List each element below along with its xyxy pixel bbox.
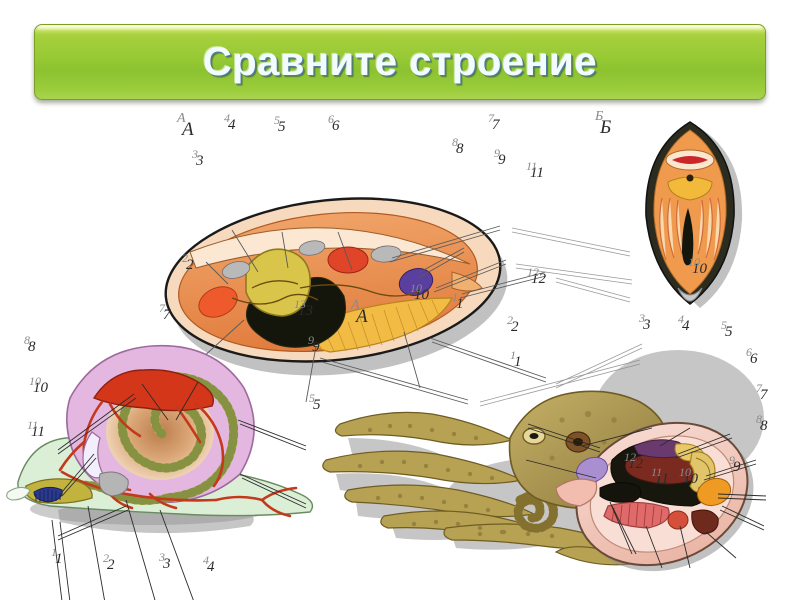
figure-callout-octopus-2: 22: [511, 320, 519, 335]
figure-callout-ghost: 1: [51, 546, 57, 558]
figure-callout-ghost: 7: [488, 112, 494, 124]
figure-callout-bivalve_cross_section-Б: ББ: [600, 118, 611, 137]
figure-callout-ghost: 10: [688, 256, 700, 268]
figure-callout-ghost: 12: [624, 451, 636, 463]
figure-callout-ghost: 1: [452, 291, 458, 303]
figure-callout-bivalve-9: 99: [498, 153, 506, 168]
figure-callout-bivalve-5: 55: [278, 120, 286, 135]
figure-callout-bivalve-10: 1010: [414, 288, 429, 303]
snail-kidney: [99, 472, 128, 496]
octopus-pupil: [530, 433, 539, 439]
figure-callout-ghost: 9: [308, 334, 314, 346]
figure-callout-ghost: 5: [274, 114, 280, 126]
figure-callout-ghost: 5: [309, 392, 315, 404]
figure-callout-bivalve-13: 1313: [298, 304, 313, 319]
figure-callout-bivalve-12: 1212: [531, 272, 546, 287]
figure-callout-snail-11: 1111: [31, 425, 45, 440]
figure-callout-octopus-8: 88: [760, 419, 768, 434]
figure-callout-ghost: 3: [159, 551, 165, 563]
figure-callout-octopus-9: 99: [733, 460, 741, 475]
figure-callout-ghost: 2: [182, 252, 188, 264]
figure-callout-octopus-12: 1212: [628, 457, 643, 472]
figure-callout-ghost: 6: [746, 346, 752, 358]
figure-callout-snail-3: 33: [163, 557, 171, 572]
figure-callout-octopus-6: 66: [750, 352, 758, 367]
figure-callout-ghost: 13: [294, 298, 306, 310]
figure-callout-ghost: 11: [651, 466, 662, 478]
figure-callout-ghost: А: [351, 299, 360, 313]
figure-callout-ghost: 9: [729, 454, 735, 466]
figure-callout-bivalve-11: 1111: [530, 166, 544, 181]
figure-callout-ghost: 11: [27, 419, 38, 431]
figure-callout-ghost: 7: [756, 382, 762, 394]
figure-callout-bivalve-А: АА: [356, 307, 368, 326]
figure-callout-ghost: 4: [678, 313, 684, 325]
figure-callout-snail-2: 22: [107, 558, 115, 573]
figure-callout-octopus-11: 1111: [655, 472, 669, 487]
figure-callout-ghost: Б: [595, 110, 603, 124]
figure-callout-bivalve_cross_section-10: 1010: [692, 262, 707, 277]
figure-callout-ghost: 4: [203, 554, 209, 566]
cross-section-gut-dot: [687, 175, 694, 182]
figure-callout-ghost: 6: [328, 113, 334, 125]
figure-callout-snail-1: 11: [55, 552, 63, 567]
figure-callout-bivalve-8: 88: [456, 142, 464, 157]
figure-callout-bivalve-А: АА: [182, 120, 194, 139]
figure-callout-bivalve-6: 66: [332, 119, 340, 134]
bivalve-cross-section-figure: [646, 122, 742, 308]
figure-callout-ghost: 8: [24, 334, 30, 346]
octopus-heart: [668, 511, 688, 529]
figure-callout-ghost: 10: [679, 466, 691, 478]
figure-callout-ghost: 3: [639, 312, 645, 324]
figure-callout-ghost: 4: [224, 112, 230, 124]
figure-callout-snail-8: 88: [28, 340, 36, 355]
figure-callout-ghost: 1: [510, 349, 516, 361]
figure-callout-ghost: 11: [526, 160, 537, 172]
figure-callout-bivalve-7: 77: [492, 118, 500, 133]
figure-callout-snail-5: 55: [313, 398, 321, 413]
figure-callout-snail-9: 99: [312, 340, 320, 355]
figure-callout-ghost: 10: [410, 282, 422, 294]
figure-callout-ghost: 2: [507, 314, 513, 326]
figure-callout-bivalve-1: 11: [456, 297, 464, 312]
octopus-figure: [323, 350, 775, 596]
title-banner: Сравните строение: [34, 24, 766, 100]
figure-callout-snail-4: 44: [207, 560, 215, 575]
figure-callout-ghost: 10: [29, 375, 41, 387]
figure-callout-snail-10: 1010: [33, 381, 48, 396]
figure-callout-octopus-10: 1010: [683, 472, 698, 487]
figure-callout-ghost: 8: [756, 413, 762, 425]
figure-callout-ghost: 8: [452, 136, 458, 148]
figure-callout-ghost: А: [177, 112, 186, 126]
figure-callout-octopus-1: 11: [514, 355, 522, 370]
figure-callout-octopus-4: 44: [682, 319, 690, 334]
figure-callout-octopus-7: 77: [760, 388, 768, 403]
octopus-ink-sac: [600, 482, 641, 502]
figure-callout-ghost: 7: [159, 302, 165, 314]
figure-callout-ghost: 3: [192, 148, 198, 160]
comparative-anatomy-figure: АА445566778899111133221313АА1010111212ББ…: [0, 102, 800, 600]
figure-callout-octopus-5: 55: [725, 325, 733, 340]
figure-callout-bivalve-3: 33: [196, 154, 204, 169]
page-title: Сравните строение: [203, 40, 597, 85]
figure-callout-bivalve-4: 44: [228, 118, 236, 133]
figure-callout-ghost: 2: [103, 552, 109, 564]
figure-callout-ghost: 12: [527, 266, 539, 278]
figure-callout-snail-7: 77: [163, 308, 171, 323]
figure-callout-bivalve-2: 22: [186, 258, 194, 273]
figure-callout-octopus-3: 33: [643, 318, 651, 333]
figure-callout-ghost: 5: [721, 319, 727, 331]
figure-callout-ghost: 9: [494, 147, 500, 159]
